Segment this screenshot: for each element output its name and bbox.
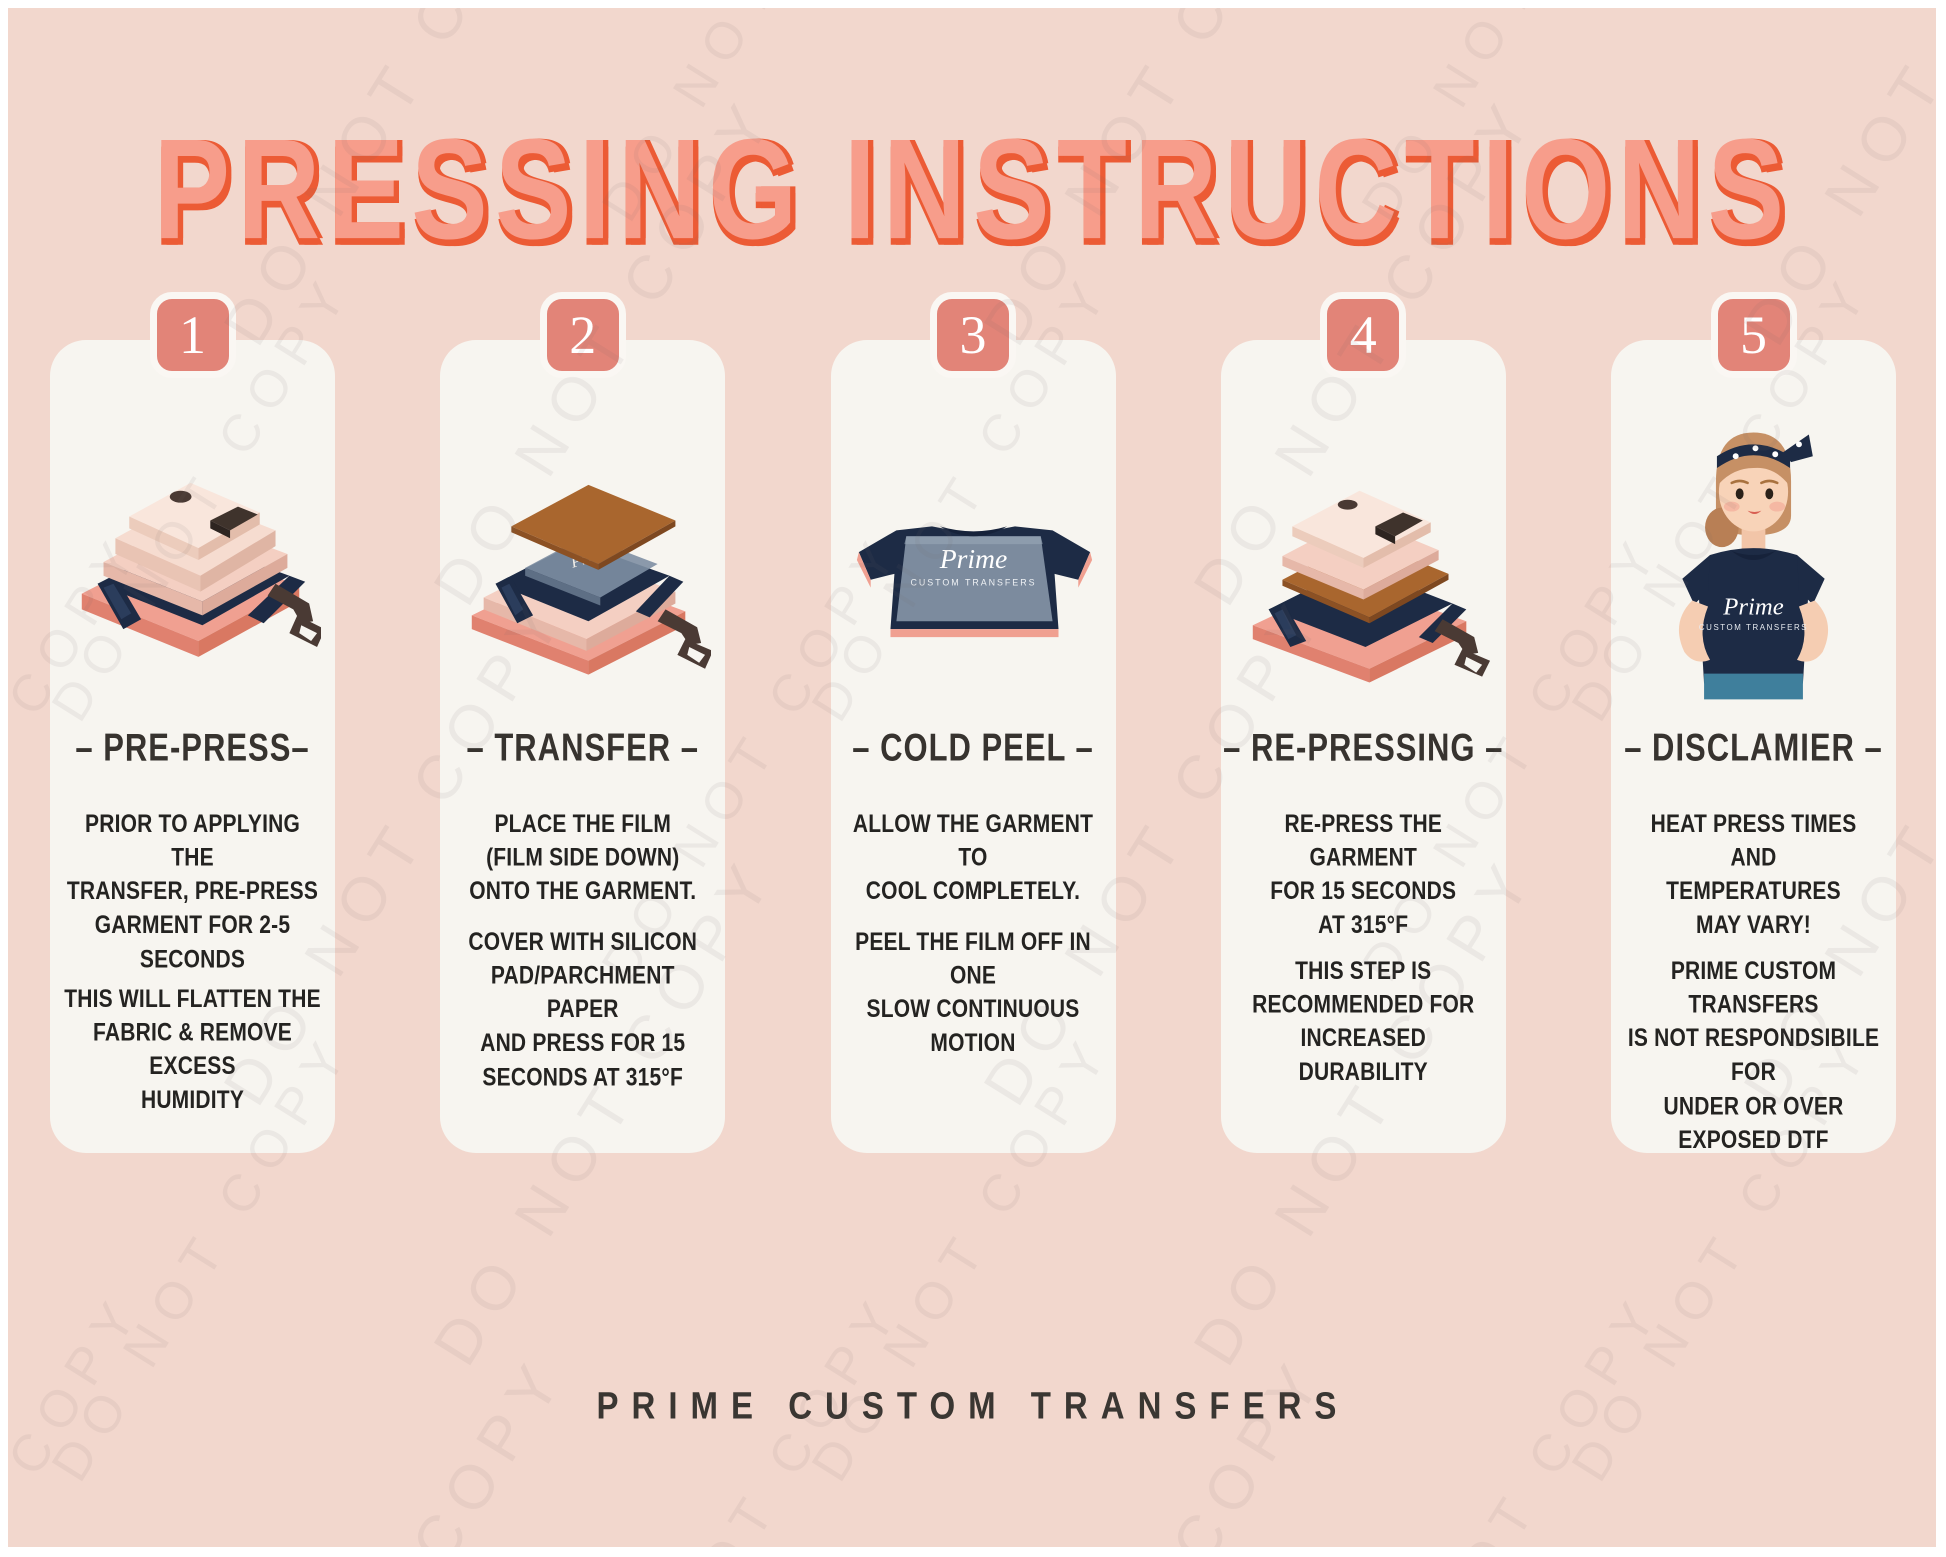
step-paragraph: HEAT PRESS TIMES AND TEMPERATURES MAY VA… — [1625, 808, 1882, 943]
step-paragraph: ALLOW THE GARMENT TO COOL COMPLETELY. — [845, 808, 1102, 909]
page-edge-bottom — [0, 1547, 1946, 1557]
step-number-5: 5 — [1740, 308, 1767, 362]
step-body-5: HEAT PRESS TIMES AND TEMPERATURES MAY VA… — [1625, 808, 1882, 1123]
step-body-2: PLACE THE FILM (FILM SIDE DOWN) ONTO THE… — [454, 808, 711, 1067]
page-title: PRESSING INSTRUCTIONS — [154, 118, 1792, 261]
step-card-2: 2 — [440, 340, 725, 1153]
title-container: PRESSING INSTRUCTIONS — [0, 118, 1946, 226]
step-body-3: ALLOW THE GARMENT TO COOL COMPLETELY. PE… — [845, 808, 1102, 1039]
step-number-badge-1: 1 — [150, 292, 236, 378]
step-body-4: RE-PRESS THE GARMENT FOR 15 SECONDS AT 3… — [1235, 808, 1492, 1067]
step-body-1: PRIOR TO APPLYING THE TRANSFER, PRE-PRES… — [64, 808, 321, 1095]
watermark-text: DO NOT COPY — [1730, 1342, 1946, 1557]
step-heading-1: – PRE-PRESS– — [75, 725, 309, 770]
watermark-text: DO NOT COPY — [970, 1342, 1341, 1557]
step-card-4: 4 Pr — [1221, 340, 1506, 1153]
svg-text:Prime: Prime — [1722, 593, 1783, 620]
step-number-3: 3 — [960, 308, 987, 362]
woman-wearing-tshirt-icon: Prime CUSTOM TRANSFERS — [1625, 394, 1882, 724]
svg-text:CUSTOM TRANSFERS: CUSTOM TRANSFERS — [910, 578, 1036, 588]
step-number-4: 4 — [1350, 308, 1377, 362]
step-heading-5: – DISCLAMIER – — [1624, 725, 1883, 770]
step-paragraph: PRIOR TO APPLYING THE TRANSFER, PRE-PRES… — [64, 808, 321, 977]
step-number-badge-5: 5 — [1711, 292, 1797, 378]
watermark-text: DO NOT COPY — [0, 842, 31, 1377]
tshirt-with-film-icon: Prime CUSTOM TRANSFERS — [845, 394, 1102, 724]
step-card-5: 5 — [1611, 340, 1896, 1153]
step-paragraph: PLACE THE FILM (FILM SIDE DOWN) ONTO THE… — [454, 808, 711, 909]
step-heading-3: – COLD PEEL – — [852, 725, 1094, 770]
step-number-badge-4: 4 — [1320, 292, 1406, 378]
step-heading-4: – RE-PRESSING – — [1223, 725, 1503, 770]
pressing-instructions-poster: DO NOT COPYDO NOT COPYDO NOT COPYDO NOT … — [0, 0, 1946, 1557]
step-paragraph: COVER WITH SILICON PAD/PARCHMENT PAPER A… — [454, 926, 711, 1095]
step-paragraph: PRIME CUSTOM TRANSFERS IS NOT RESPONDSIB… — [1625, 955, 1882, 1158]
step-number-1: 1 — [179, 308, 206, 362]
step-heading-2: – TRANSFER – — [467, 725, 699, 770]
heat-press-closed-icon — [64, 394, 321, 724]
step-paragraph: THIS STEP IS RECOMMENDED FOR INCREASED D… — [1235, 955, 1492, 1090]
step-card-3: 3 Prime CUSTOM TRANSFERS — [831, 340, 1116, 1153]
steps-row: 1 — [50, 340, 1896, 1153]
step-number-badge-2: 2 — [540, 292, 626, 378]
step-card-1: 1 — [50, 340, 335, 1153]
page-edge-left — [0, 0, 8, 1557]
heat-press-repress-icon: Pr — [1235, 394, 1492, 724]
step-paragraph: RE-PRESS THE GARMENT FOR 15 SECONDS AT 3… — [1235, 808, 1492, 943]
heat-press-layers-icon: Prime — [454, 394, 711, 724]
step-paragraph: THIS WILL FLATTEN THE FABRIC & REMOVE EX… — [64, 983, 321, 1118]
svg-text:CUSTOM TRANSFERS: CUSTOM TRANSFERS — [1699, 623, 1808, 632]
page-edge-right — [1936, 0, 1946, 1557]
svg-text:Prime: Prime — [938, 543, 1007, 574]
step-paragraph: PEEL THE FILM OFF IN ONE SLOW CONTINUOUS… — [845, 926, 1102, 1061]
page-edge-top — [0, 0, 1946, 8]
brand-footer: PRIME CUSTOM TRANSFERS — [0, 1384, 1946, 1428]
step-number-badge-3: 3 — [930, 292, 1016, 378]
watermark-text: DO NOT COPY — [1940, 842, 1946, 1377]
step-number-2: 2 — [569, 308, 596, 362]
watermark-text: DO NOT COPY — [210, 1342, 581, 1557]
